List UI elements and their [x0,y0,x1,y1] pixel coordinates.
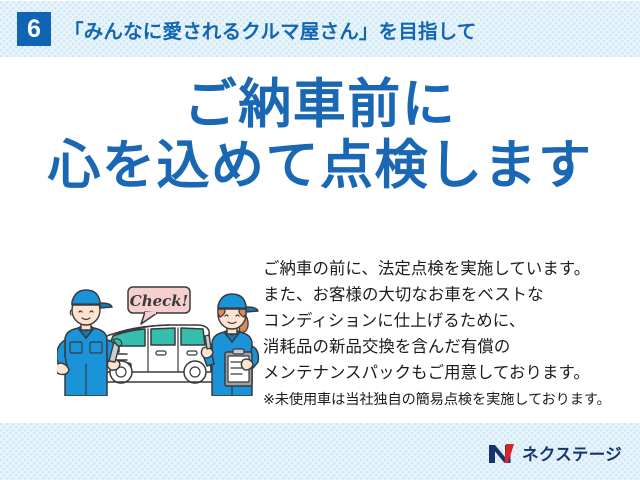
header-band: 6 「みんなに愛されるクルマ屋さん」を目指して [0,1,640,57]
right-mechanic [201,294,258,396]
body-copy: ご納車の前に、法定点検を実施しています。 また、お客様の大切なお車をベストな コ… [263,256,625,412]
left-mechanic [57,290,122,396]
page-title: ご納車前に 心を込めて点検します [0,78,640,193]
body-line: また、お客様の大切なお車をベストな [263,282,625,308]
header-content: 6 「みんなに愛されるクルマ屋さん」を目指して [0,1,640,57]
headline-line-1: ご納車前に [0,78,640,132]
header-title: 「みんなに愛されるクルマ屋さん」を目指して [64,15,477,44]
speech-bubble-text: Check! [130,292,189,310]
headline-line-2: 心を込めて点検します [0,139,640,193]
check-speech-bubble: Check! [128,287,190,324]
body-line: メンテナンスパックもご用意しております。 [263,360,625,386]
nextage-n-mark-icon [488,443,515,464]
mechanics-illustration: .ln { fill:none; stroke:#3a3a3a; stroke-… [57,268,267,396]
body-line: 消耗品の新品交換を含んだ有償の [263,334,625,360]
body-line: コンディションに仕上げるために、 [263,308,625,334]
footer-band: ネクステージ [0,423,640,480]
section-number-badge: 6 [17,12,51,46]
body-line: ご納車の前に、法定点検を実施しています。 [263,256,625,282]
body-footnote: ※未使用車は当社独自の簡易点検を実施しております。 [263,389,625,412]
promo-image-root: 6 「みんなに愛されるクルマ屋さん」を目指して ご納車前に 心を込めて点検します… [0,0,640,480]
brand-logo: ネクステージ [488,442,622,464]
illustration-svg: .ln { fill:none; stroke:#3a3a3a; stroke-… [57,268,267,396]
brand-logo-text: ネクステージ [522,441,622,465]
